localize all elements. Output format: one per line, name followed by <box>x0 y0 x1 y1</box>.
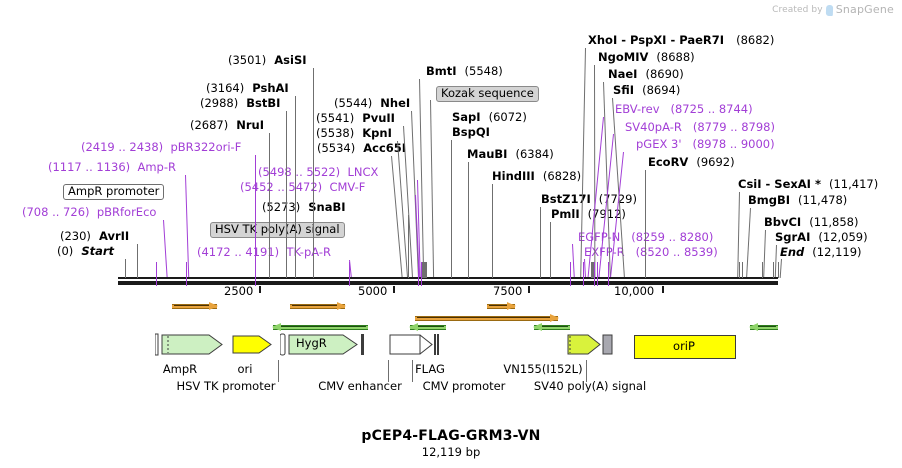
leader-line-pshai <box>295 96 296 278</box>
primer-range: (8725 .. 8744) <box>670 102 752 116</box>
plasmid-size: 12,119 bp <box>0 445 902 459</box>
primer-arrow-cmv-rev[interactable] <box>273 323 368 330</box>
feature-caption-ori: ori <box>225 362 265 376</box>
ruler-bar[interactable] <box>118 281 778 285</box>
enzyme-name: Start <box>81 244 114 258</box>
enzyme-label-pshai[interactable]: (3164) PshAI <box>206 82 289 94</box>
primer-name: CMV-F <box>329 180 365 194</box>
feature-caption-hsv-tk-promoter: HSV TK promoter <box>166 379 286 393</box>
enzyme-name: HindIII <box>492 169 535 183</box>
enzyme-pos: (6072) <box>489 110 527 124</box>
leader-line-bbvci <box>763 230 766 278</box>
enzyme-pos: (6384) <box>515 147 553 161</box>
enzyme-name: End <box>780 245 804 259</box>
enzyme-pos: (2687) <box>190 118 228 132</box>
feature-label-orip: oriP <box>634 339 734 353</box>
plasmid-title: pCEP4-FLAG-GRM3-VN <box>0 428 902 444</box>
primer-name: EBV-rev <box>615 102 660 116</box>
ruler-bar-top <box>118 277 778 279</box>
enzyme-label-start[interactable]: (0) Start <box>57 245 114 257</box>
enzyme-label-kpni[interactable]: (5538) KpnI <box>316 127 392 139</box>
leader-line-kozak <box>430 100 434 278</box>
site-tick-7729 <box>540 262 541 278</box>
enzyme-pos: (6828) <box>543 169 581 183</box>
site-tick-cmv-f <box>418 262 419 286</box>
enzyme-pos: (5534) <box>317 141 355 155</box>
enzyme-pos: (8690) <box>645 67 683 81</box>
ruler-tick-10000 <box>662 286 664 293</box>
enzyme-pos: (9692) <box>696 155 734 169</box>
primer-label-amp-r[interactable]: (1117 .. 1136) Amp-R <box>48 161 176 173</box>
site-tick-12119 <box>778 262 779 278</box>
site-tick-ebv-rev <box>594 262 595 286</box>
site-tick-6828 <box>492 262 493 278</box>
primer-arrow-ampr-fwd[interactable] <box>172 302 217 309</box>
leader-line-sgrai <box>775 245 777 278</box>
primer-arrow-long-fwd[interactable] <box>415 314 558 321</box>
enzyme-label-nhei[interactable]: (5544) NheI <box>334 97 410 109</box>
site-tick-9692 <box>645 262 646 278</box>
feature-caption-cmv-enhancer: CMV enhancer <box>300 379 420 393</box>
enzyme-pos: (3501) <box>228 53 266 67</box>
feature-pill-hsv-tk-polya-signal[interactable]: HSV TK poly(A) signal <box>210 222 345 238</box>
enzyme-pos: (8688) <box>656 50 694 64</box>
enzyme-pos: (11,478) <box>798 193 847 207</box>
site-tick-0 <box>125 262 126 278</box>
enzyme-label-pmli[interactable]: PmlI (7912) <box>551 208 626 220</box>
enzyme-pos: (11,858) <box>809 215 858 229</box>
primer-label-lncx[interactable]: (5498 .. 5522) LNCX <box>258 166 378 178</box>
primer-arrow-hygr-fwd[interactable] <box>290 302 345 309</box>
leader-line-egfp-n <box>572 244 575 278</box>
enzyme-label-snabi[interactable]: (5273) SnaBI <box>262 201 346 213</box>
primer-label-tk-pa-r[interactable]: (4172 .. 4191) TK-pA-R <box>197 246 331 258</box>
enzyme-label-asisi[interactable]: (3501) AsiSI <box>228 54 307 66</box>
enzyme-label-bmgbi[interactable]: BmgBI (11,478) <box>748 194 847 206</box>
primer-label-exfp-r[interactable]: EXFP-R (8520 .. 8539) <box>584 246 718 258</box>
leader-line-acc65i <box>391 156 403 278</box>
site-tick-5273 <box>408 262 409 278</box>
site-tick-2687 <box>269 262 270 278</box>
ruler-label-7500: 7500 <box>493 284 522 298</box>
enzyme-pos: (2988) <box>200 96 238 110</box>
leader-line-nrui <box>269 133 270 278</box>
leader-line-kpni <box>397 141 408 278</box>
feature-glyph-flag[interactable] <box>389 332 439 358</box>
feature-caption-flag: FLAG <box>400 362 460 376</box>
snapgene-logo-icon <box>825 5 832 16</box>
leader-line-pbrforeco <box>163 220 168 278</box>
primer-arrow-mid-fwd[interactable] <box>487 302 515 309</box>
feature-glyph-vn155[interactable] <box>565 332 613 358</box>
enzyme-label-sfii[interactable]: SfiI (8694) <box>613 84 680 96</box>
enzyme-pos: (5541) <box>316 111 354 125</box>
feature-pill-kozak-sequence[interactable]: Kozak sequence <box>436 86 539 102</box>
site-tick-exfp-r <box>583 262 584 286</box>
enzyme-label-ecorv[interactable]: EcoRV (9692) <box>648 156 735 168</box>
enzyme-name: EcoRV <box>648 155 688 169</box>
primer-name: pGEX 3' <box>636 137 682 151</box>
primer-label-sv40pa-r[interactable]: SV40pA-R (8779 .. 8798) <box>625 121 775 133</box>
ruler-label-5000: 5000 <box>358 284 387 298</box>
primer-name: pBR322ori-F <box>170 140 241 154</box>
enzyme-pos: (12,059) <box>818 230 867 244</box>
enzyme-label-pvuii[interactable]: (5541) PvuII <box>316 112 395 124</box>
leader-line-end <box>780 259 782 278</box>
primer-label-pbr322ori-f[interactable]: (2419 .. 2438) pBR322ori-F <box>81 141 241 153</box>
primer-name: TK-pA-R <box>286 245 331 259</box>
plasmid-map-canvas: Created by SnapGene (3501) AsiSI (3164) … <box>0 0 902 468</box>
site-tick-11858 <box>762 262 763 278</box>
enzyme-label-sapi[interactable]: SapI (6072) <box>452 111 527 123</box>
enzyme-name: BspQI <box>452 125 490 139</box>
enzyme-name: NgoMIV <box>598 50 648 64</box>
leader-line-exfp-r <box>584 259 586 278</box>
enzyme-name: AvrII <box>99 229 129 243</box>
site-tick-egfp-n <box>570 262 571 286</box>
ruler-tick-7500 <box>528 286 530 293</box>
site-tick-amp-r <box>186 262 187 286</box>
primer-range: (8520 .. 8539) <box>636 245 718 259</box>
primer-range: (8978 .. 9000) <box>692 137 774 151</box>
enzyme-name: AsiSI <box>274 53 306 67</box>
enzyme-name: Acc65I <box>363 141 406 155</box>
site-tick-5548 <box>426 262 427 278</box>
snapgene-watermark: Created by SnapGene <box>772 3 894 16</box>
enzyme-name: NheI <box>380 96 410 110</box>
enzyme-label-hindiii[interactable]: HindIII (6828) <box>492 170 581 182</box>
enzyme-pos: (8694) <box>642 83 680 97</box>
primer-name: pBRforEco <box>97 205 157 219</box>
site-tick-3164 <box>295 262 296 278</box>
enzyme-label-bbvci[interactable]: BbvCI (11,858) <box>764 216 858 228</box>
watermark-prefix: Created by <box>772 5 823 15</box>
enzyme-name: BmtI <box>426 64 457 78</box>
leader-line-sapi <box>451 140 452 278</box>
enzyme-name: CsiI - SexAI * <box>738 177 821 191</box>
site-tick-6072 <box>451 262 452 278</box>
site-tick-2988 <box>286 262 287 278</box>
leader-line-bstbi <box>286 111 287 278</box>
enzyme-pos: (5538) <box>316 126 354 140</box>
feature-caption-ampr: AmpR <box>150 362 210 376</box>
enzyme-name: SgrAI <box>775 230 810 244</box>
enzyme-name: PshAI <box>252 81 288 95</box>
primer-name: SV40pA-R <box>625 120 682 134</box>
feature-label-hygr: HygR <box>296 336 327 350</box>
enzyme-label-nrui[interactable]: (2687) NruI <box>190 119 264 131</box>
site-tick-tk-pa-r <box>349 262 350 286</box>
ruler-tick-2500 <box>259 286 261 293</box>
site-tick-pbr322ori-f <box>255 262 256 286</box>
enzyme-pos: (8682) <box>736 33 774 47</box>
leader-line-maubi <box>468 162 469 278</box>
leader-line-asisi <box>313 68 314 278</box>
enzyme-label-ngomiv[interactable]: NgoMIV (8688) <box>598 51 695 63</box>
enzyme-pos: (11,417) <box>829 177 878 191</box>
site-tick-6384 <box>468 262 469 278</box>
enzyme-label-end[interactable]: End (12,119) <box>780 246 862 258</box>
ruler-label-2500: 2500 <box>224 284 253 298</box>
enzyme-name: BbvCI <box>764 215 801 229</box>
enzyme-name: SfiI <box>613 83 634 97</box>
feature-pill-ampr-promoter[interactable]: AmpR promoter <box>63 184 164 200</box>
enzyme-pos: (230) <box>60 229 91 243</box>
enzyme-name: KpnI <box>362 126 392 140</box>
site-tick-sv40pa-r <box>597 262 598 286</box>
feature-caption-vn155: VN155(I152L) <box>488 362 598 376</box>
enzyme-label-bstz17i[interactable]: BstZ17I (7729) <box>541 193 637 205</box>
enzyme-label-bspqi[interactable]: BspQI <box>452 126 490 138</box>
primer-name: LNCX <box>347 165 378 179</box>
primer-label-pgex-3prime[interactable]: pGEX 3' (8978 .. 9000) <box>636 138 775 150</box>
enzyme-name: BstZ17I <box>541 192 591 206</box>
enzyme-name: NruI <box>236 118 264 132</box>
site-tick-11478 <box>742 262 743 278</box>
primer-arrow-orip-rev[interactable] <box>750 323 778 330</box>
leader-line-ngomiv <box>594 65 595 278</box>
ruler-tick-5000 <box>393 286 395 293</box>
leader-line-pbr322ori-f <box>255 155 256 278</box>
enzyme-pos: (0) <box>57 244 73 258</box>
primer-range: (4172 .. 4191) <box>197 245 279 259</box>
enzyme-pos: (5544) <box>334 96 372 110</box>
enzyme-label-acc65i[interactable]: (5534) Acc65I <box>317 142 406 154</box>
enzyme-label-xhoi-pspxi-paer7i[interactable]: XhoI - PspXI - PaeR7I (8682) <box>588 34 774 46</box>
enzyme-name: MauBI <box>467 147 507 161</box>
enzyme-name: BmgBI <box>748 193 790 207</box>
site-tick-12059 <box>773 262 774 278</box>
enzyme-pos: (3164) <box>206 81 244 95</box>
watermark-brand: SnapGene <box>836 3 894 16</box>
enzyme-name: XhoI - PspXI - PaeR7I <box>588 33 724 47</box>
enzyme-label-naei[interactable]: NaeI (8690) <box>608 68 684 80</box>
ruler-label-10000: 10,000 <box>614 284 654 298</box>
primer-range: (708 .. 726) <box>22 205 90 219</box>
feature-caption-cmv-promoter: CMV promoter <box>404 379 524 393</box>
primer-arrow-vn155-rev[interactable] <box>534 323 570 330</box>
enzyme-name: PmlI <box>551 207 580 221</box>
enzyme-name: PvuII <box>362 111 395 125</box>
site-tick-230 <box>137 262 138 278</box>
enzyme-label-bmti[interactable]: BmtI (5548) <box>426 65 503 77</box>
site-tick-11417 <box>739 262 740 278</box>
primer-range: (5498 .. 5522) <box>258 165 340 179</box>
primer-label-pbrforeco[interactable]: (708 .. 726) pBRforEco <box>22 206 156 218</box>
feature-glyph-ampr[interactable] <box>155 332 227 358</box>
site-tick-pbrforeco <box>156 262 157 286</box>
primer-name: Amp-R <box>137 160 176 174</box>
primer-range: (1117 .. 1136) <box>48 160 130 174</box>
enzyme-label-bstbi[interactable]: (2988) BstBI <box>200 97 280 109</box>
enzyme-label-csii-sexai[interactable]: CsiI - SexAI * (11,417) <box>738 178 878 190</box>
primer-range: (8259 .. 8280) <box>631 230 713 244</box>
primer-range: (5452 .. 5472) <box>240 180 322 194</box>
enzyme-name: SapI <box>452 110 481 124</box>
leader-line-bmgbi <box>746 208 751 278</box>
primer-label-ebv-rev[interactable]: EBV-rev (8725 .. 8744) <box>615 103 753 115</box>
primer-arrow-flag-rev[interactable] <box>410 323 446 330</box>
enzyme-label-sgrai[interactable]: SgrAI (12,059) <box>775 231 868 243</box>
primer-range: (8779 .. 8798) <box>693 120 775 134</box>
primer-label-cmv-f[interactable]: (5452 .. 5472) CMV-F <box>240 181 365 193</box>
feature-caption-sv40-polya: SV40 poly(A) signal <box>510 379 670 393</box>
enzyme-pos: (5548) <box>465 64 503 78</box>
primer-range: (2419 .. 2438) <box>81 140 163 154</box>
enzyme-name: BstBI <box>246 96 280 110</box>
feature-glyph-ori[interactable] <box>232 332 274 358</box>
site-tick-pgex-3prime <box>608 262 609 286</box>
enzyme-name: NaeI <box>608 67 637 81</box>
enzyme-label-maubi[interactable]: MauBI (6384) <box>467 148 554 160</box>
site-tick-3501 <box>313 262 314 278</box>
enzyme-label-avrii[interactable]: (230) AvrII <box>60 230 129 242</box>
site-tick-7912 <box>550 262 551 278</box>
enzyme-pos: (12,119) <box>812 245 861 259</box>
